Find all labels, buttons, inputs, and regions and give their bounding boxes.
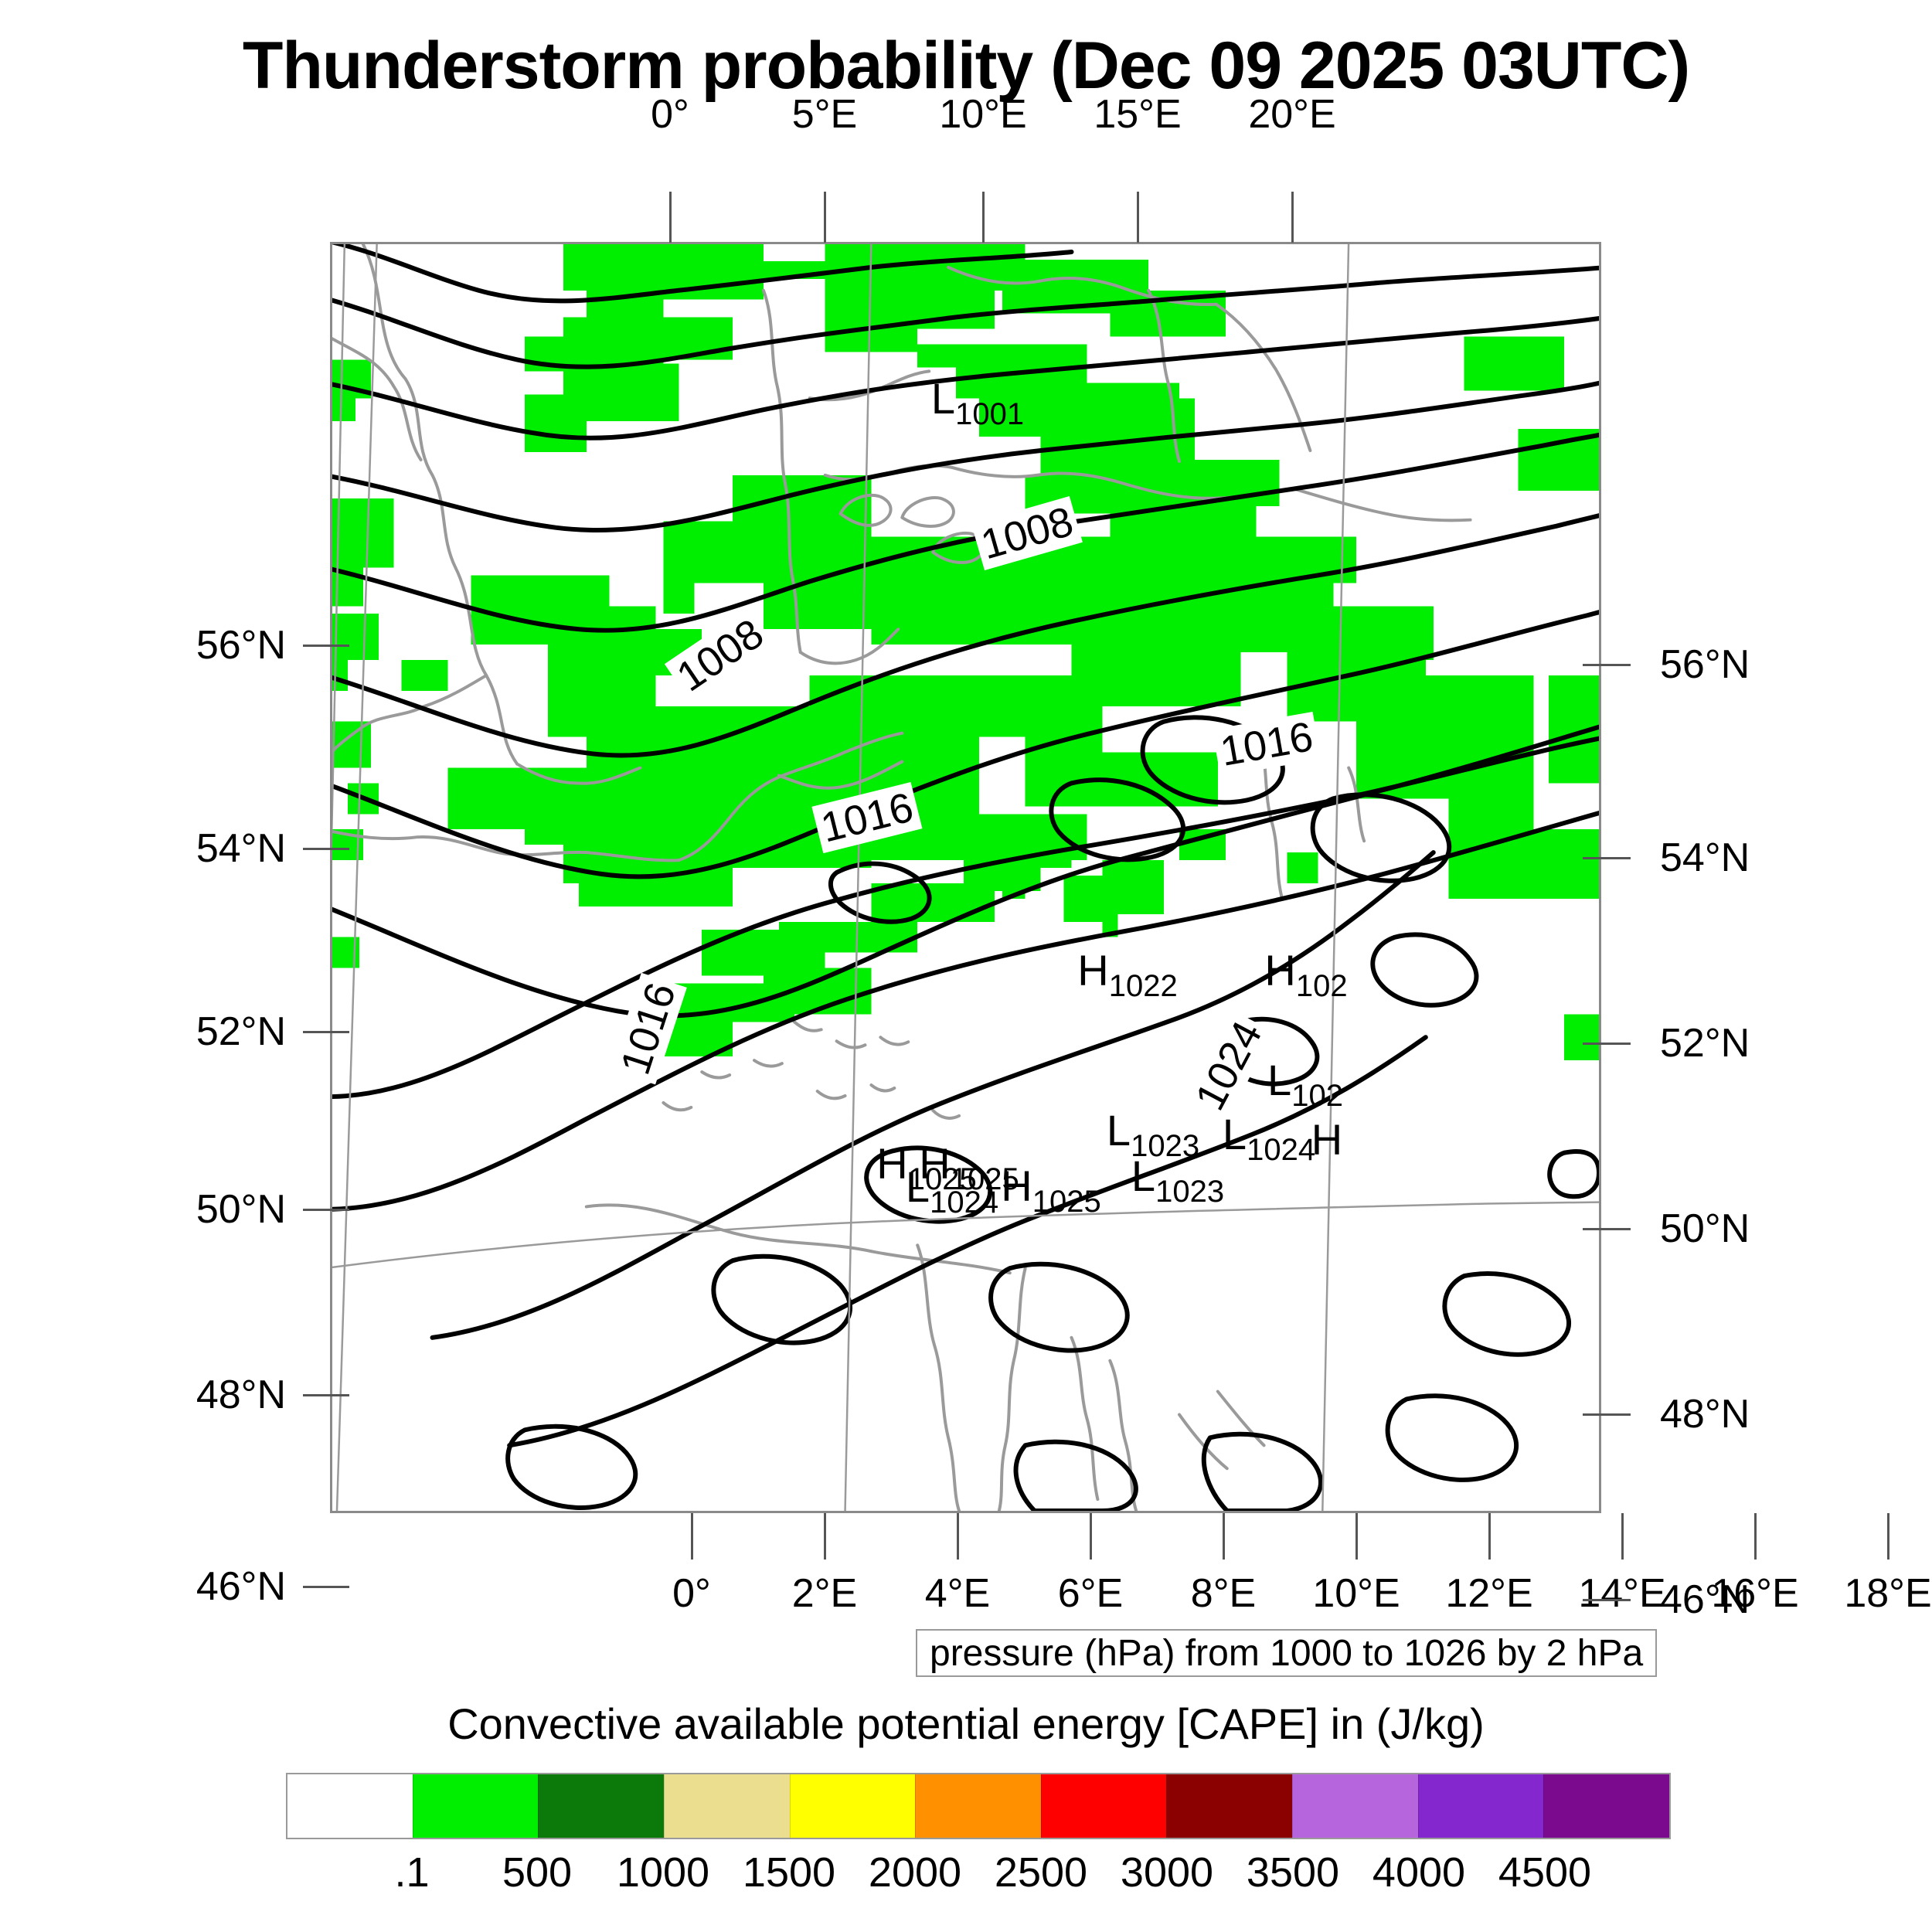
pressure-legend-text: pressure (hPa) from 1000 to 1026 by 2 hP… (930, 1632, 1643, 1675)
axis-right-tick-label: 56°N (1660, 641, 1750, 688)
colorbar-swatch[interactable] (790, 1774, 916, 1838)
axis-bottom-tick (1355, 1513, 1358, 1560)
axis-bottom-tick (957, 1513, 959, 1560)
axis-left-tick (303, 645, 349, 647)
axis-top-tick-label: 20°E (1248, 91, 1335, 138)
axis-right-tick (1583, 664, 1631, 666)
axis-bottom-tick-label: 6°E (1058, 1570, 1123, 1617)
axis-bottom-tick-label: 18°E (1844, 1570, 1931, 1617)
axis-left-tick-label: 52°N (100, 1009, 286, 1055)
axis-bottom-tick-label: 2°E (792, 1570, 857, 1617)
axis-right-tick-label: 54°N (1660, 835, 1750, 881)
colorbar-swatch[interactable] (664, 1774, 790, 1838)
axis-right-tick (1583, 857, 1631, 859)
colorbar-swatch[interactable] (1543, 1774, 1669, 1838)
colorbar-tick-label: 2500 (995, 1849, 1087, 1896)
colorbar-tick-label: 3000 (1121, 1849, 1213, 1896)
axis-bottom-tick (1488, 1513, 1491, 1560)
colorbar-swatch[interactable] (915, 1774, 1041, 1838)
axis-top-tick (1291, 192, 1294, 243)
colorbar-tick-label: 1500 (743, 1849, 835, 1896)
axis-top-tick-label: 15°E (1094, 91, 1181, 138)
axis-top-tick-label: 10°E (939, 91, 1026, 138)
axis-bottom-tick-label: 0° (672, 1570, 711, 1617)
axis-bottom-tick (691, 1513, 693, 1560)
axis-left-tick (303, 1394, 349, 1396)
cape-colorbar-labels: .150010001500200025003000350040004500 (286, 1849, 1671, 1903)
axis-right-tick (1583, 1599, 1631, 1601)
colorbar-tick-label: 2000 (869, 1849, 961, 1896)
map-canvas (332, 244, 1599, 1511)
colorbar-swatch[interactable] (1418, 1774, 1544, 1838)
axis-right-tick (1583, 1228, 1631, 1230)
axis-left-tick-label: 54°N (100, 825, 286, 872)
axis-left-tick-label: 46°N (100, 1563, 286, 1610)
colorbar-tick-label: 3500 (1247, 1849, 1339, 1896)
axis-bottom-tick (1887, 1513, 1889, 1560)
axis-top-tick-label: 5°E (792, 91, 857, 138)
axis-left-tick-label: 50°N (100, 1186, 286, 1233)
colorbar-tick-label: 1000 (617, 1849, 709, 1896)
axis-bottom-tick-label: 10°E (1312, 1570, 1400, 1617)
axis-right-tick (1583, 1413, 1631, 1416)
cape-colorbar[interactable] (286, 1773, 1671, 1839)
colorbar-swatch[interactable] (1041, 1774, 1167, 1838)
cape-caption: Convective available potential energy [C… (0, 1699, 1932, 1749)
axis-bottom-tick-label: 14°E (1578, 1570, 1665, 1617)
axis-bottom-tick (1090, 1513, 1092, 1560)
colorbar-swatch[interactable] (1166, 1774, 1292, 1838)
axis-right-tick-label: 46°N (1660, 1577, 1750, 1623)
colorbar-tick-label: 4500 (1498, 1849, 1591, 1896)
axis-left-tick (303, 1031, 349, 1033)
axis-top-tick (982, 192, 985, 243)
axis-left-tick (303, 848, 349, 850)
axis-left-tick-label: 48°N (100, 1372, 286, 1418)
axis-top-tick (824, 192, 826, 243)
axis-bottom-tick-label: 12°E (1445, 1570, 1532, 1617)
axis-left-tick (303, 1209, 349, 1211)
colorbar-tick-label: 500 (502, 1849, 572, 1896)
axis-top-tick (1137, 192, 1139, 243)
colorbar-swatch[interactable] (413, 1774, 539, 1838)
axis-bottom-tick (1754, 1513, 1757, 1560)
axis-bottom-tick (1621, 1513, 1624, 1560)
axis-bottom-tick (1223, 1513, 1225, 1560)
colorbar-swatch[interactable] (287, 1774, 413, 1838)
axis-right-tick (1583, 1043, 1631, 1045)
axis-top-tick-label: 0° (651, 91, 689, 138)
axis-bottom-tick-label: 8°E (1191, 1570, 1256, 1617)
axis-bottom-tick (824, 1513, 826, 1560)
axis-right-tick-label: 48°N (1660, 1391, 1750, 1437)
axis-right-tick-label: 50°N (1660, 1206, 1750, 1252)
axis-left-tick-label: 56°N (100, 622, 286, 668)
colorbar-tick-label: 4000 (1372, 1849, 1465, 1896)
axis-top-tick (669, 192, 672, 243)
axis-right-tick-label: 52°N (1660, 1020, 1750, 1066)
pressure-legend-box: pressure (hPa) from 1000 to 1026 by 2 hP… (916, 1629, 1657, 1677)
cape-shading-layer (332, 244, 1599, 1060)
axis-left-tick (303, 1586, 349, 1588)
colorbar-tick-label: .1 (394, 1849, 429, 1896)
map-panel[interactable] (330, 242, 1601, 1513)
axis-bottom-tick-label: 4°E (925, 1570, 990, 1617)
colorbar-swatch[interactable] (1292, 1774, 1418, 1838)
colorbar-swatch[interactable] (538, 1774, 664, 1838)
